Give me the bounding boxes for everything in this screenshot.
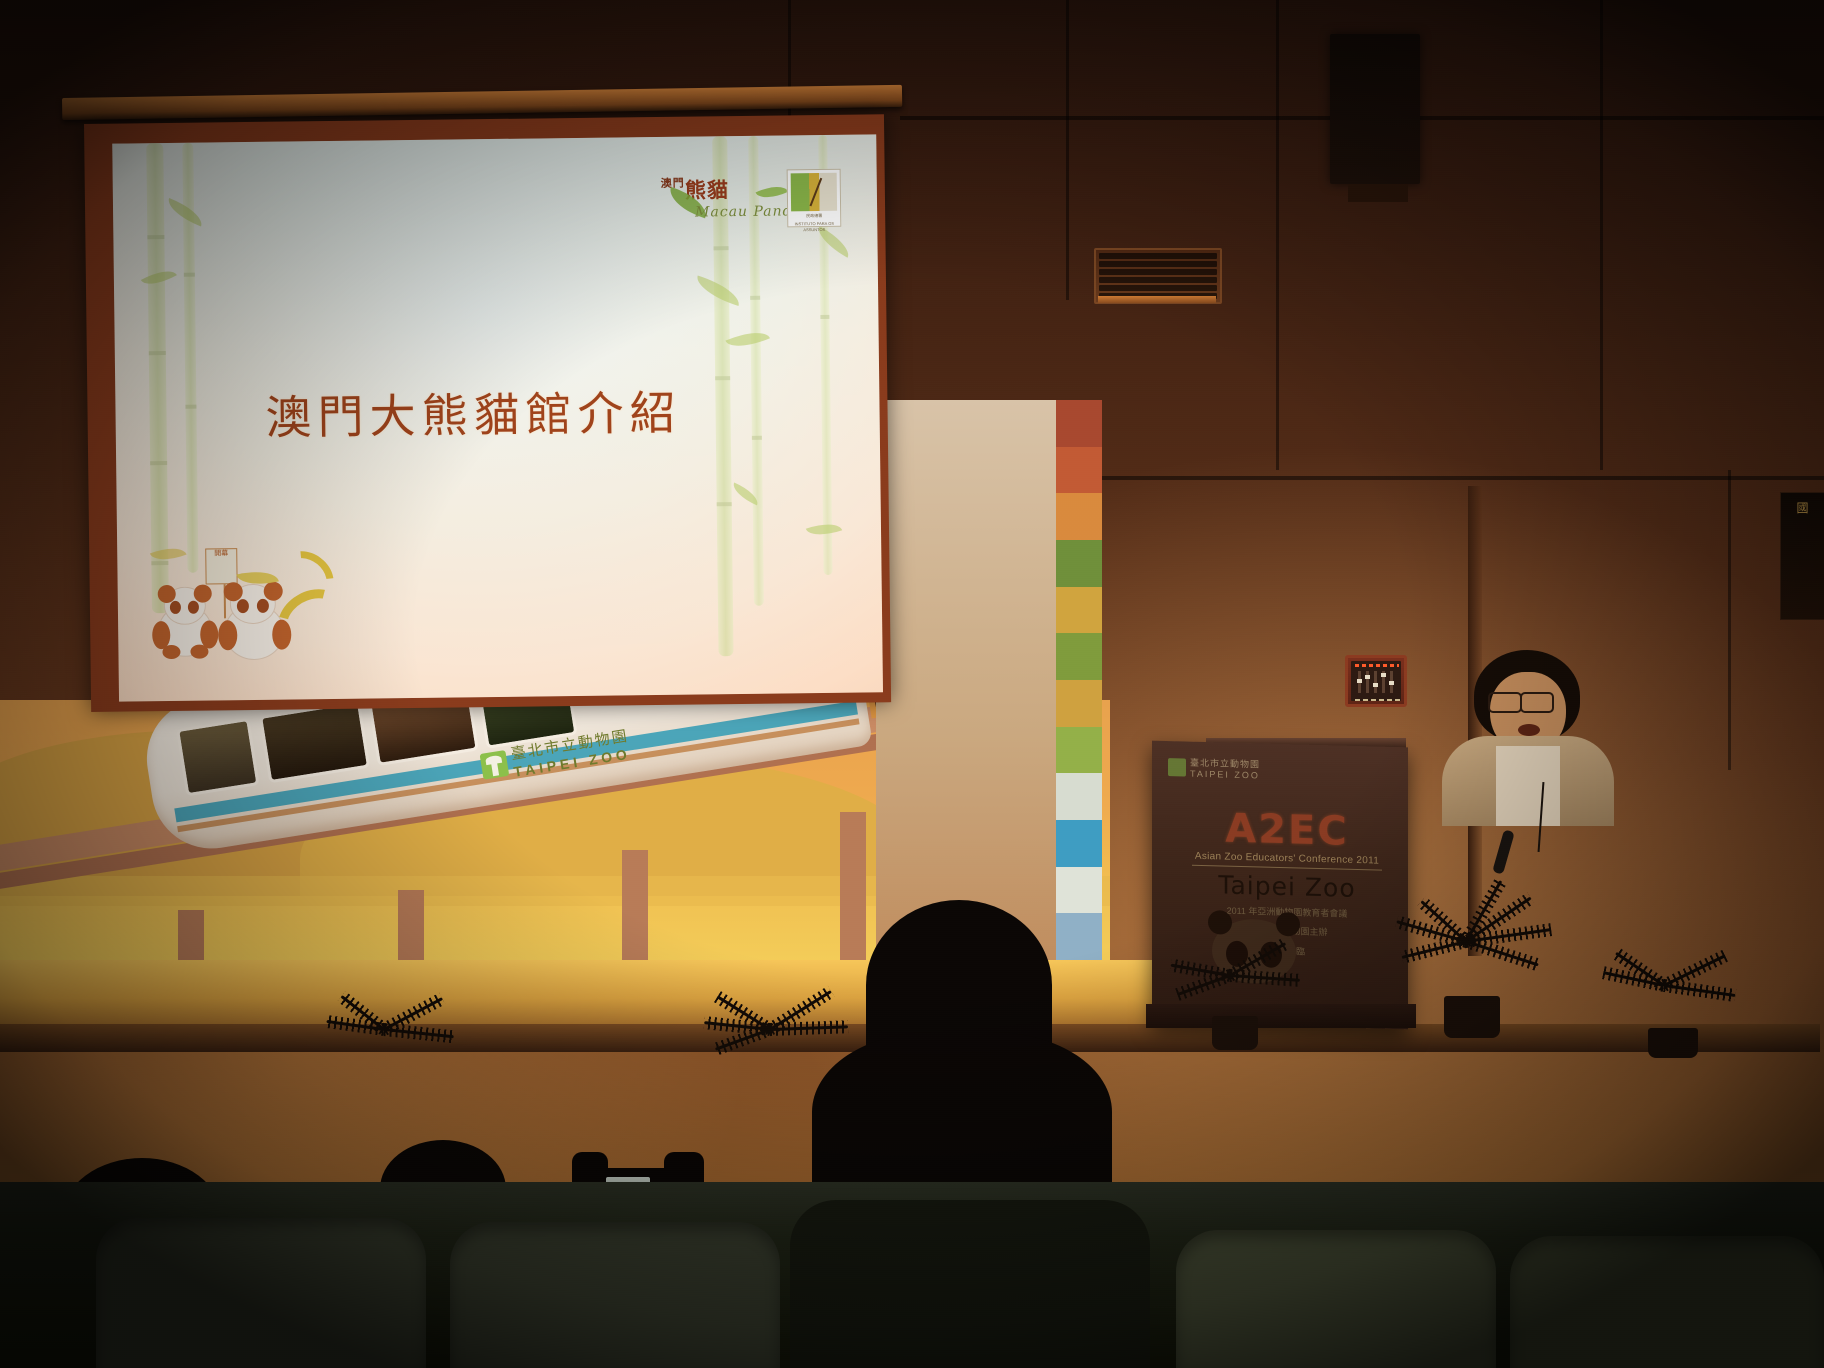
mascot-banner-text: 開幕 <box>206 549 236 558</box>
glasses-icon <box>1520 692 1554 713</box>
auditorium-seat <box>96 1218 426 1368</box>
wall-audio-control-panel[interactable] <box>1345 655 1407 707</box>
slide-logo-english: Macau Panda <box>695 203 802 220</box>
audio-led-row <box>1355 664 1399 667</box>
potted-plant <box>1598 936 1748 1056</box>
institute-badge: 民政總署 INSTITUTO PARA OS ASSUNTOS <box>787 169 842 228</box>
potted-plant <box>1392 884 1562 1034</box>
podium-zoo-english: TAIPEI ZOO <box>1190 769 1260 781</box>
tree-icon <box>479 750 509 780</box>
slide-surface: 澳門熊貓 Macau Panda 民政總署 INSTITUTO PARA OS … <box>112 134 883 701</box>
speaker-shirt <box>1496 746 1560 826</box>
podium-zoo-logo: 臺北市立動物園 TAIPEI ZOO <box>1168 755 1260 780</box>
wall-seam <box>1728 470 1731 770</box>
wall-sign-glyph: 國 <box>1781 493 1824 516</box>
loudspeaker-bracket <box>1348 184 1408 202</box>
wall-loudspeaker <box>1330 34 1420 184</box>
auditorium-seat <box>790 1200 1150 1368</box>
auditorium-seat <box>1176 1230 1496 1368</box>
wall-seam <box>1276 0 1279 470</box>
conference-full-title: Asian Zoo Educators' Conference 2011 <box>1192 851 1382 871</box>
conference-host: Taipei Zoo <box>1192 870 1382 904</box>
leaf-icon <box>756 180 789 204</box>
auditorium-seat <box>450 1222 780 1368</box>
train-window <box>176 718 260 797</box>
badge-caption: 民政總署 <box>791 213 837 220</box>
potted-plant <box>1168 930 1308 1050</box>
mascot-banner: 開幕 <box>205 548 237 584</box>
tree-icon <box>1168 758 1186 776</box>
wall-seam <box>1066 0 1069 300</box>
slide-logo: 澳門熊貓 Macau Panda 民政總署 INSTITUTO PARA OS … <box>661 169 842 241</box>
badge-caption: INSTITUTO PARA OS ASSUNTOS <box>791 221 837 234</box>
panda-mascot-group: 開幕 <box>147 543 329 675</box>
speaker-mouth <box>1518 724 1540 736</box>
slide-title: 澳門大熊貓館介紹 <box>265 375 826 448</box>
backdrop-side-panel <box>876 400 1058 960</box>
auditorium-seat <box>1510 1236 1824 1368</box>
panda-mascot <box>154 586 217 659</box>
wall-sign: 國 <box>1780 492 1824 620</box>
speaker-person <box>1426 650 1626 820</box>
air-vent-lip <box>1098 296 1216 303</box>
backdrop-color-strip <box>1056 400 1102 960</box>
glasses-icon <box>1488 692 1522 713</box>
potted-plant <box>318 986 468 1096</box>
projection-screen: 澳門熊貓 Macau Panda 民政總署 INSTITUTO PARA OS … <box>84 114 891 712</box>
wall-seam <box>1600 0 1603 470</box>
auditorium-scene: 國 <box>0 0 1824 1368</box>
conference-acronym: A2EC <box>1192 808 1382 853</box>
